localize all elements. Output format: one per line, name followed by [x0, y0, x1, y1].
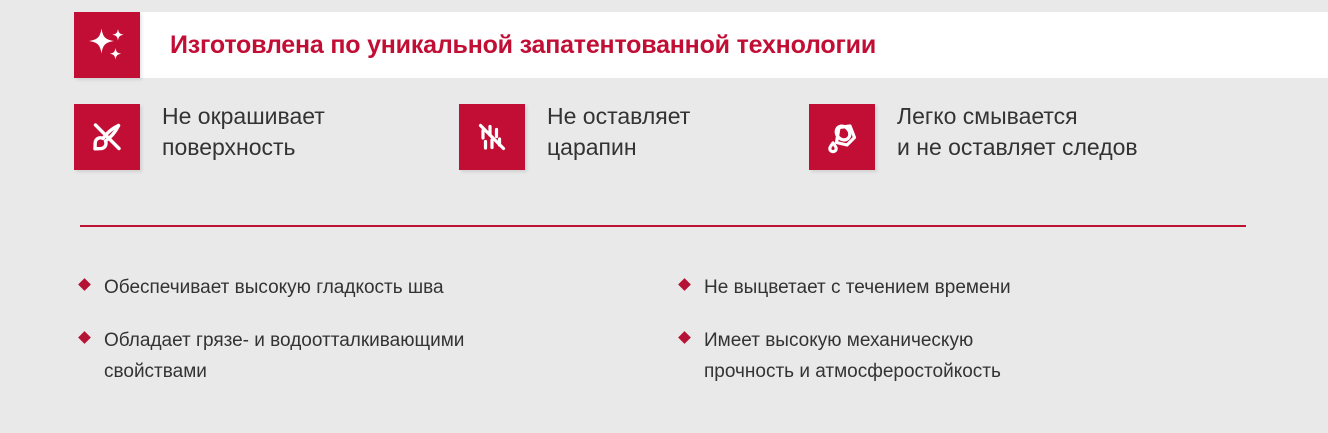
list-item: Обладает грязе- и водоотталкивающими сво…	[80, 325, 620, 387]
page-title: Изготовлена по уникальной запатентованно…	[170, 31, 876, 60]
list-item-label: Не выцветает с течением времени	[704, 272, 1011, 303]
header-bar: Изготовлена по уникальной запатентованно…	[74, 12, 1328, 78]
feature-item-no-scratches: Не оставляет царапин	[459, 104, 690, 170]
diamond-bullet-icon	[78, 331, 91, 344]
benefits-column-right: Не выцветает с течением времени Имеет вы…	[680, 272, 1200, 409]
benefits-column-left: Обеспечивает высокую гладкость шва Облад…	[80, 272, 620, 409]
feature-label: Не окрашивает поверхность	[162, 101, 325, 163]
sparkle-icon	[74, 12, 140, 78]
no-scratches-icon	[459, 104, 525, 170]
paint-bucket-drop-icon	[809, 104, 875, 170]
list-item: Не выцветает с течением времени	[680, 272, 1200, 303]
list-item: Имеет высокую механическую прочность и а…	[680, 325, 1200, 387]
section-divider	[80, 225, 1246, 227]
feature-label: Легко смывается и не оставляет следов	[897, 101, 1138, 163]
list-item: Обеспечивает высокую гладкость шва	[80, 272, 620, 303]
diamond-bullet-icon	[678, 331, 691, 344]
diamond-bullet-icon	[78, 278, 91, 291]
diamond-bullet-icon	[678, 278, 691, 291]
feature-banner: Изготовлена по уникальной запатентованно…	[0, 0, 1328, 433]
feature-item-no-paint: Не окрашивает поверхность	[74, 104, 325, 170]
feature-item-easy-wash: Легко смывается и не оставляет следов	[809, 104, 1138, 170]
feature-label: Не оставляет царапин	[547, 101, 690, 163]
list-item-label: Имеет высокую механическую прочность и а…	[704, 325, 1001, 387]
list-item-label: Обеспечивает высокую гладкость шва	[104, 272, 444, 303]
no-paintbrush-icon	[74, 104, 140, 170]
features-row: Не окрашивает поверхность Не оставляет	[74, 100, 1254, 190]
list-item-label: Обладает грязе- и водоотталкивающими сво…	[104, 325, 464, 387]
